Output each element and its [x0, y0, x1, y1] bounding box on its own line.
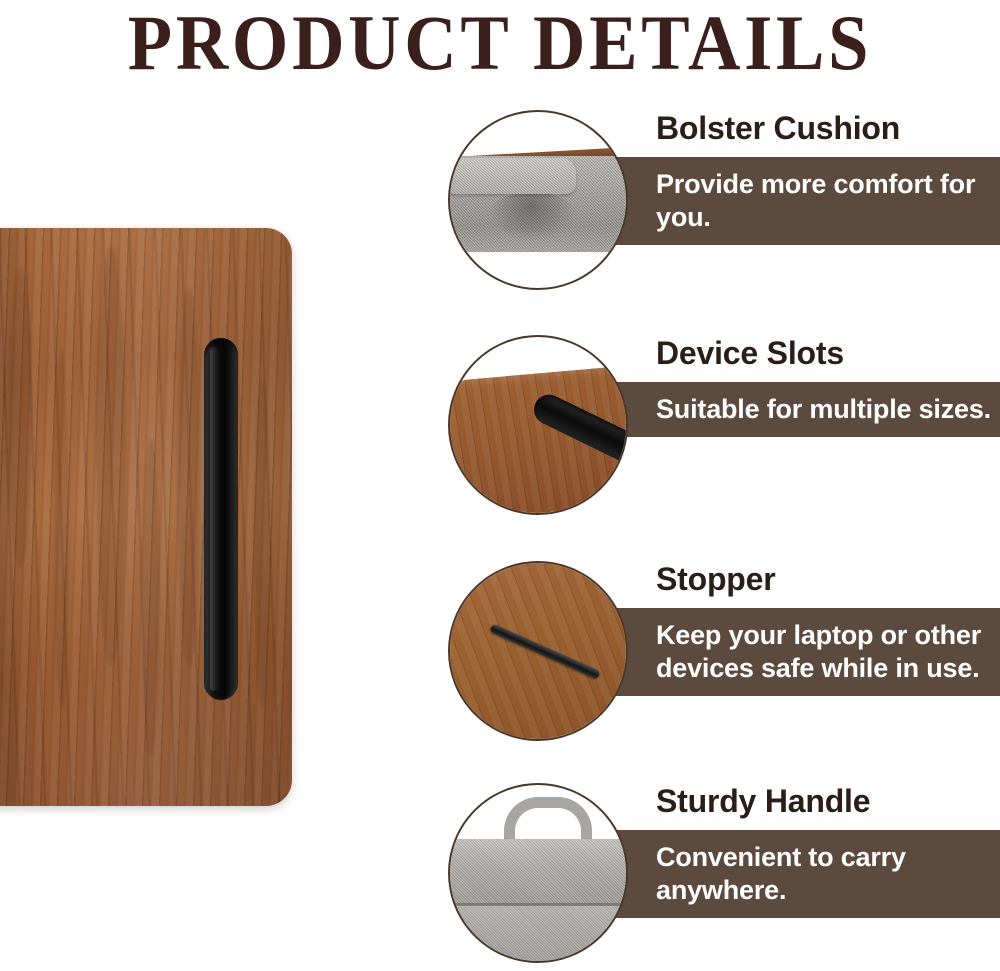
page-title: PRODUCT DETAILS [35, 0, 965, 92]
hero-wood-board [0, 228, 292, 806]
feature-title: Sturdy Handle [656, 783, 870, 820]
device-slots-photo [448, 335, 628, 515]
bolster-cushion-photo [448, 110, 628, 290]
feature-title: Stopper [656, 561, 776, 598]
bag-seam [448, 903, 628, 906]
cushion-fabric [448, 156, 628, 252]
feature-title: Bolster Cushion [656, 110, 900, 147]
sturdy-handle-photo [448, 783, 628, 963]
bag-upper-body [448, 839, 628, 905]
hero-wood-grain [0, 228, 292, 806]
feature-title: Device Slots [656, 335, 844, 372]
cushion-flap [448, 158, 576, 194]
bag-lower-body [448, 905, 628, 963]
hero-product-image [0, 228, 292, 808]
hero-device-slot [204, 338, 238, 700]
stopper-photo [448, 561, 628, 741]
product-details-infographic: PRODUCT DETAILS Bolster Cushion Provide … [0, 0, 1000, 971]
